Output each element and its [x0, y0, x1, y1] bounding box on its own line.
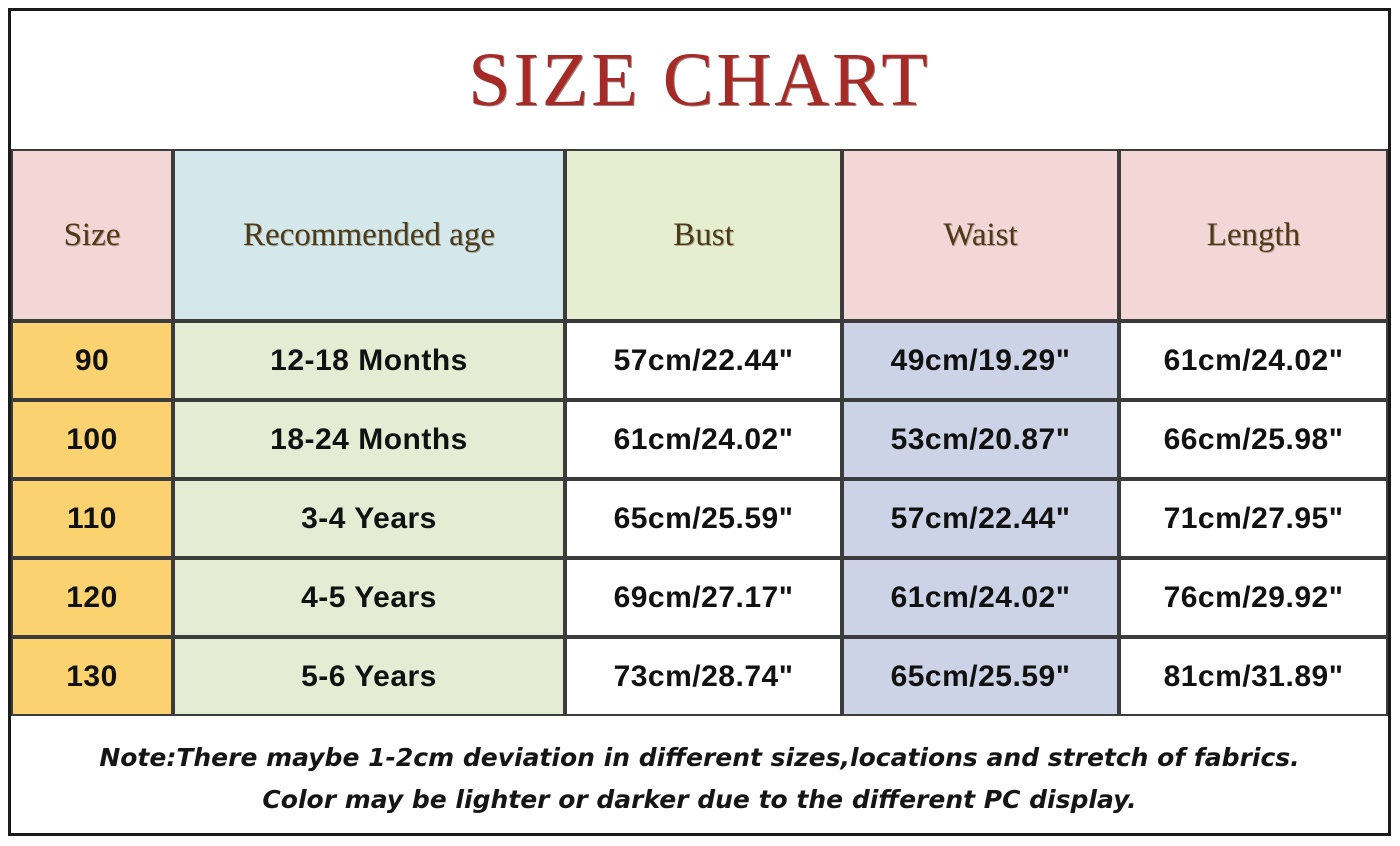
cell-size: 130: [11, 637, 173, 716]
value-age: 5-6 Years: [175, 662, 563, 692]
header-label-bust: Bust: [567, 219, 840, 252]
value-size: 110: [13, 504, 171, 534]
value-bust: 69cm/27.17": [567, 583, 840, 613]
cell-age: 3-4 Years: [173, 479, 565, 558]
value-length: 71cm/27.95": [1121, 504, 1386, 534]
cell-waist: 57cm/22.44": [842, 479, 1119, 558]
header-label-waist: Waist: [844, 219, 1117, 252]
table-row: 120 4-5 Years 69cm/27.17" 61cm/24.02" 76…: [11, 558, 1388, 637]
cell-bust: 57cm/22.44": [565, 321, 842, 400]
value-age: 18-24 Months: [175, 425, 563, 455]
column-header-recommended-age: Recommended age: [173, 149, 565, 321]
cell-length: 66cm/25.98": [1119, 400, 1388, 479]
column-header-size: Size: [11, 149, 173, 321]
cell-waist: 49cm/19.29": [842, 321, 1119, 400]
value-age: 3-4 Years: [175, 504, 563, 534]
value-waist: 65cm/25.59": [844, 662, 1117, 692]
table-row: 130 5-6 Years 73cm/28.74" 65cm/25.59" 81…: [11, 637, 1388, 716]
value-bust: 65cm/25.59": [567, 504, 840, 534]
cell-bust: 73cm/28.74": [565, 637, 842, 716]
value-waist: 53cm/20.87": [844, 425, 1117, 455]
value-size: 90: [13, 346, 171, 376]
cell-waist: 65cm/25.59": [842, 637, 1119, 716]
cell-age: 5-6 Years: [173, 637, 565, 716]
cell-age: 12-18 Months: [173, 321, 565, 400]
table-row: 110 3-4 Years 65cm/25.59" 57cm/22.44" 71…: [11, 479, 1388, 558]
chart-frame: SIZE CHART Size Recommended age: [8, 8, 1391, 836]
value-waist: 49cm/19.29": [844, 346, 1117, 376]
value-length: 76cm/29.92": [1121, 583, 1386, 613]
value-size: 130: [13, 662, 171, 692]
column-header-bust: Bust: [565, 149, 842, 321]
header-label-age: Recommended age: [175, 219, 563, 252]
cell-waist: 53cm/20.87": [842, 400, 1119, 479]
value-size: 120: [13, 583, 171, 613]
cell-size: 110: [11, 479, 173, 558]
cell-size: 100: [11, 400, 173, 479]
cell-length: 61cm/24.02": [1119, 321, 1388, 400]
value-waist: 57cm/22.44": [844, 504, 1117, 534]
title-bar: SIZE CHART: [11, 11, 1388, 149]
table-row: 100 18-24 Months 61cm/24.02" 53cm/20.87"…: [11, 400, 1388, 479]
value-bust: 61cm/24.02": [567, 425, 840, 455]
value-bust: 57cm/22.44": [567, 346, 840, 376]
cell-length: 71cm/27.95": [1119, 479, 1388, 558]
value-length: 61cm/24.02": [1121, 346, 1386, 376]
cell-age: 4-5 Years: [173, 558, 565, 637]
value-length: 81cm/31.89": [1121, 662, 1386, 692]
table-row: 90 12-18 Months 57cm/22.44" 49cm/19.29" …: [11, 321, 1388, 400]
value-age: 12-18 Months: [175, 346, 563, 376]
cell-length: 81cm/31.89": [1119, 637, 1388, 716]
cell-age: 18-24 Months: [173, 400, 565, 479]
note-deviation: Note:There maybe 1-2cm deviation in diff…: [11, 738, 1388, 780]
header-label-length: Length: [1121, 219, 1386, 252]
value-size: 100: [13, 425, 171, 455]
note-color-display: Color may be lighter or darker due to th…: [11, 780, 1388, 822]
cell-bust: 69cm/27.17": [565, 558, 842, 637]
header-label-size: Size: [13, 219, 171, 252]
column-header-waist: Waist: [842, 149, 1119, 321]
value-age: 4-5 Years: [175, 583, 563, 613]
page-title: SIZE CHART: [468, 42, 930, 118]
value-bust: 73cm/28.74": [567, 662, 840, 692]
cell-size: 90: [11, 321, 173, 400]
cell-bust: 65cm/25.59": [565, 479, 842, 558]
size-chart-table: Size Recommended age Bust Waist Length: [11, 149, 1388, 716]
cell-waist: 61cm/24.02": [842, 558, 1119, 637]
value-length: 66cm/25.98": [1121, 425, 1386, 455]
value-waist: 61cm/24.02": [844, 583, 1117, 613]
footer-notes: Note:There maybe 1-2cm deviation in diff…: [11, 716, 1388, 822]
size-chart-page: SIZE CHART Size Recommended age: [0, 0, 1400, 846]
table-header-row: Size Recommended age Bust Waist Length: [11, 149, 1388, 321]
column-header-length: Length: [1119, 149, 1388, 321]
cell-length: 76cm/29.92": [1119, 558, 1388, 637]
cell-size: 120: [11, 558, 173, 637]
cell-bust: 61cm/24.02": [565, 400, 842, 479]
